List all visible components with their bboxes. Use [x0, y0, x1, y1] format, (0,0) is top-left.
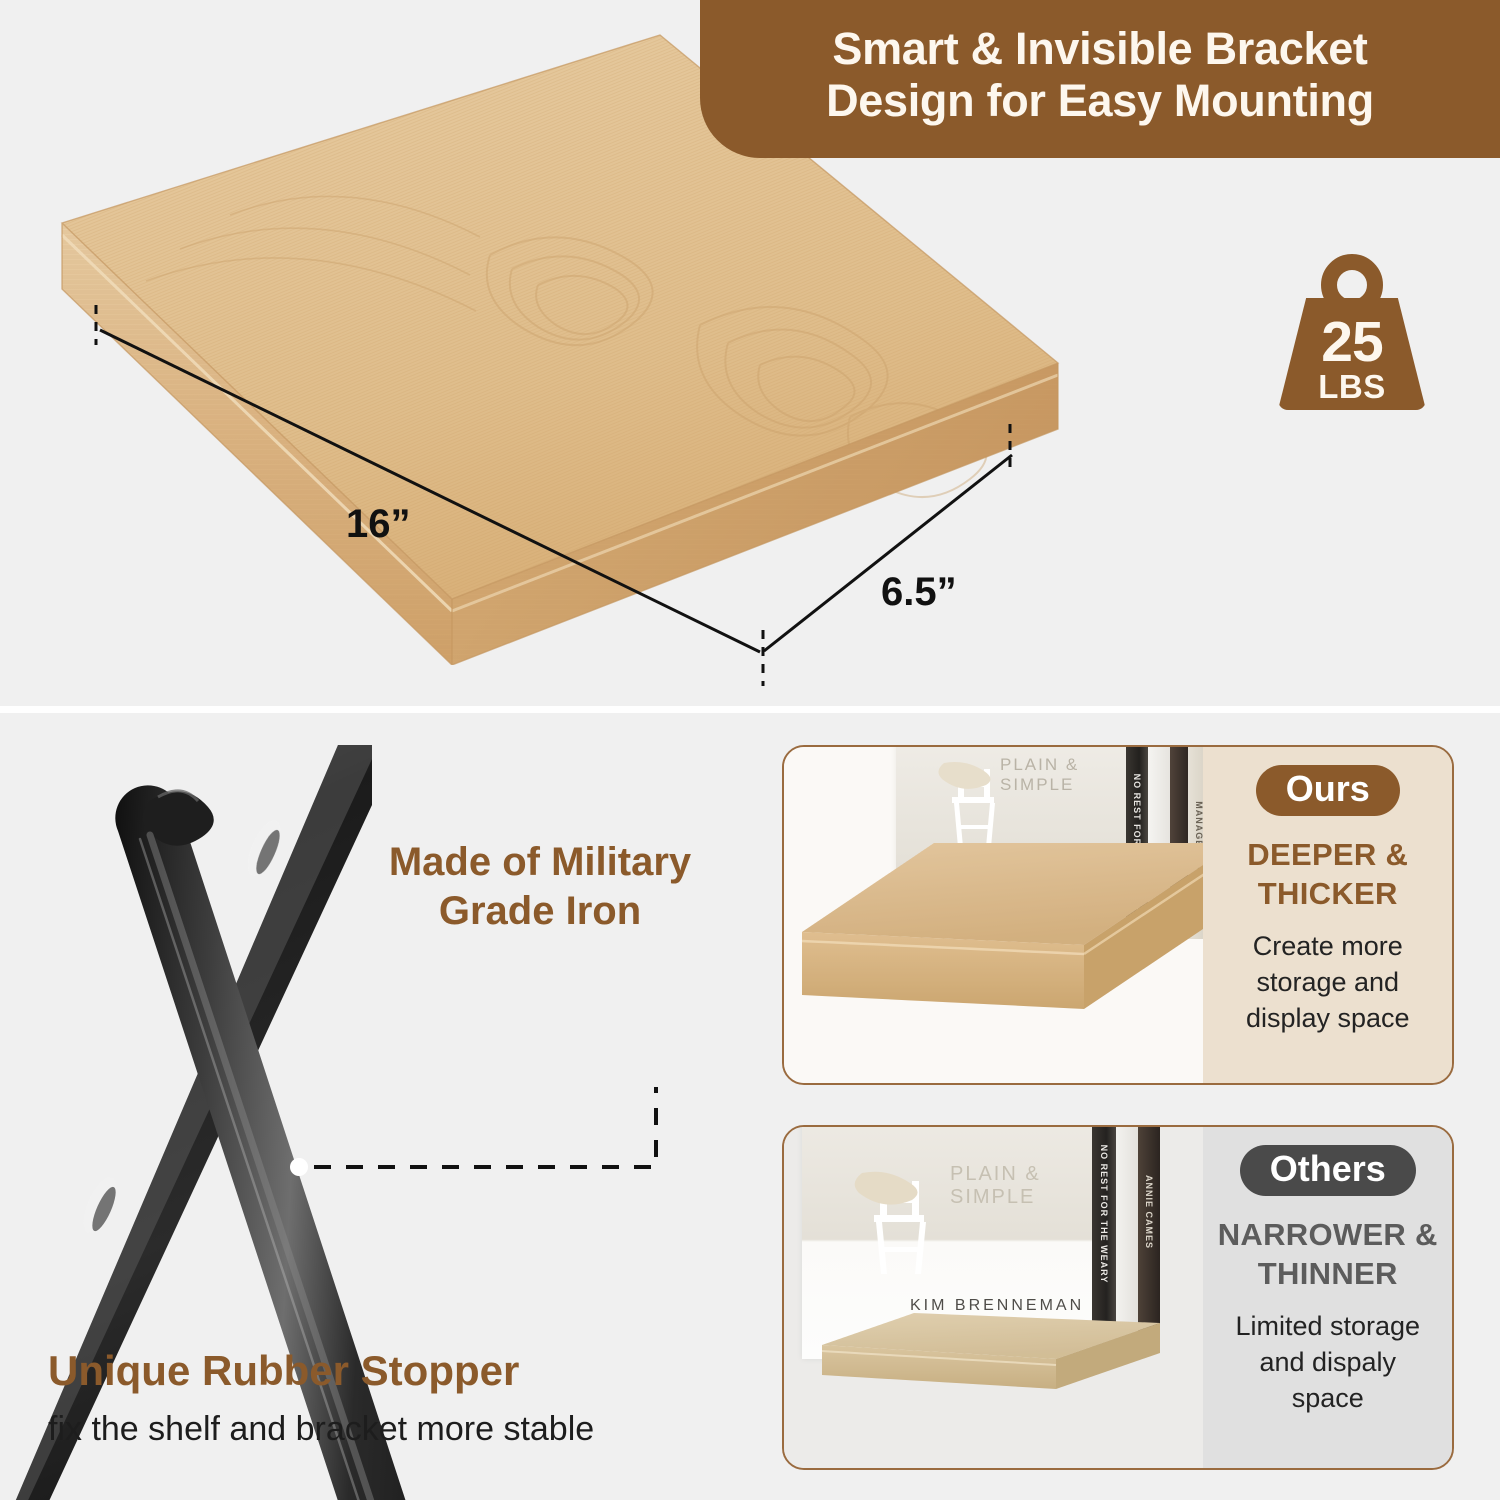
- shelf-others: [784, 1127, 1203, 1468]
- military-iron-title: Made of Military Grade Iron: [330, 838, 750, 936]
- panel-divider: [0, 706, 1500, 713]
- comparison-info-ours: Ours DEEPER & THICKER Create more storag…: [1203, 747, 1452, 1083]
- dimension-depth-label: 6.5”: [881, 570, 957, 615]
- comparison-card-ours: PLAIN & SIMPLE KIM BRENNEMAN NO REST FOR…: [782, 745, 1454, 1085]
- weight-value: 25: [1272, 314, 1432, 371]
- rubber-stopper-title: Unique Rubber Stopper: [48, 1348, 748, 1394]
- headline-line-2: Design for Easy Mounting: [826, 75, 1374, 127]
- comparison-pill-others: Others: [1240, 1145, 1416, 1196]
- comparison-body-ours: Create more storage and display space: [1236, 929, 1420, 1036]
- shelf-ours: [784, 747, 1203, 1083]
- comparison-headline-ours: DEEPER & THICKER: [1247, 836, 1408, 914]
- product-dimension-panel: 16” 6.5” Smart & Invisible Bracket Desig…: [0, 0, 1500, 706]
- comparison-card-others: HOME MANAGEMENT: [782, 1125, 1454, 1470]
- comparison-pill-ours: Ours: [1256, 765, 1400, 816]
- bracket-illustration-area: Made of Military Grade Iron Unique Rubbe…: [0, 713, 760, 1500]
- military-iron-line-2: Grade Iron: [439, 889, 641, 933]
- comparison-headline-others: NARROWER & THINNER: [1218, 1216, 1438, 1294]
- rubber-stopper-subtitle: fix the shelf and bracket more stable: [48, 1411, 768, 1448]
- comparison-body-others: Limited storage and dispaly space: [1225, 1309, 1430, 1416]
- weight-unit: LBS: [1272, 370, 1432, 403]
- iron-callout-line: [314, 1087, 656, 1167]
- features-comparison-panel: Made of Military Grade Iron Unique Rubbe…: [0, 713, 1500, 1500]
- comparison-photo-others: HOME MANAGEMENT: [784, 1127, 1203, 1468]
- comparison-photo-ours: PLAIN & SIMPLE KIM BRENNEMAN NO REST FOR…: [784, 747, 1203, 1083]
- headline-banner: Smart & Invisible Bracket Design for Eas…: [700, 0, 1500, 158]
- weight-capacity-badge: 25 LBS: [1272, 252, 1432, 412]
- military-iron-line-1: Made of Military: [389, 840, 691, 884]
- dimension-length-label: 16”: [346, 502, 411, 547]
- comparison-info-others: Others NARROWER & THINNER Limited storag…: [1203, 1127, 1452, 1468]
- headline-line-1: Smart & Invisible Bracket: [832, 23, 1367, 75]
- infographic-stage: 16” 6.5” Smart & Invisible Bracket Desig…: [0, 0, 1500, 1500]
- bracket-pin-hole: [290, 1158, 308, 1176]
